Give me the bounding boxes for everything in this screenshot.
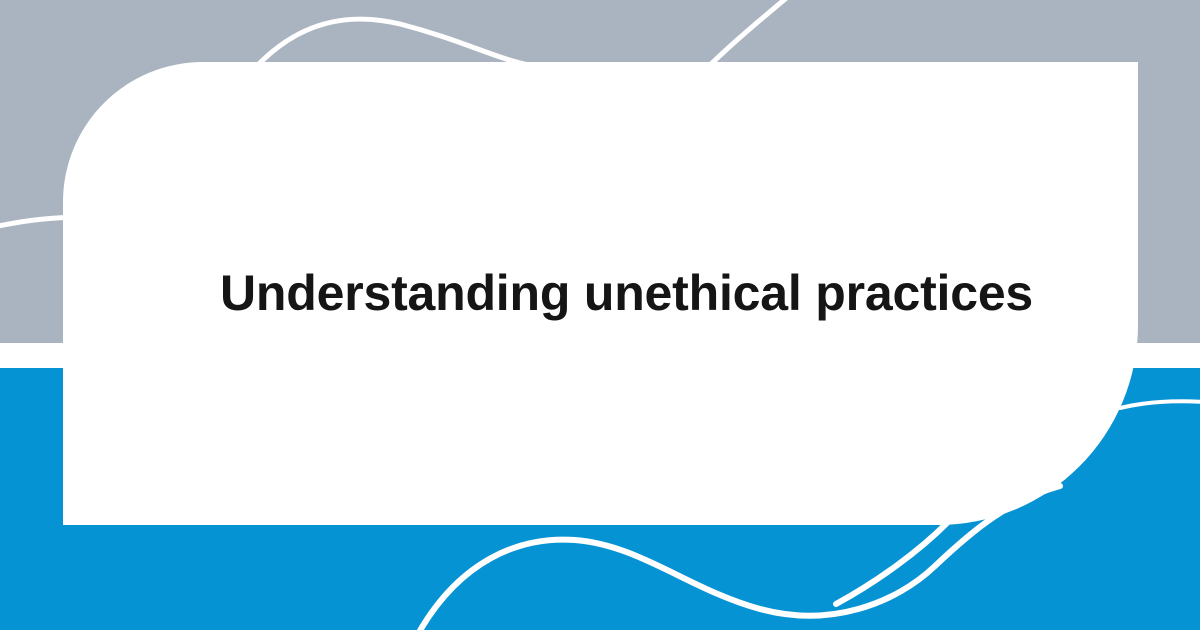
card-content-area: Understanding unethical practices xyxy=(63,62,1138,525)
page-title: Understanding unethical practices xyxy=(63,266,1033,321)
social-card-canvas: Understanding unethical practices xyxy=(0,0,1200,630)
content-card: Understanding unethical practices xyxy=(63,62,1138,525)
